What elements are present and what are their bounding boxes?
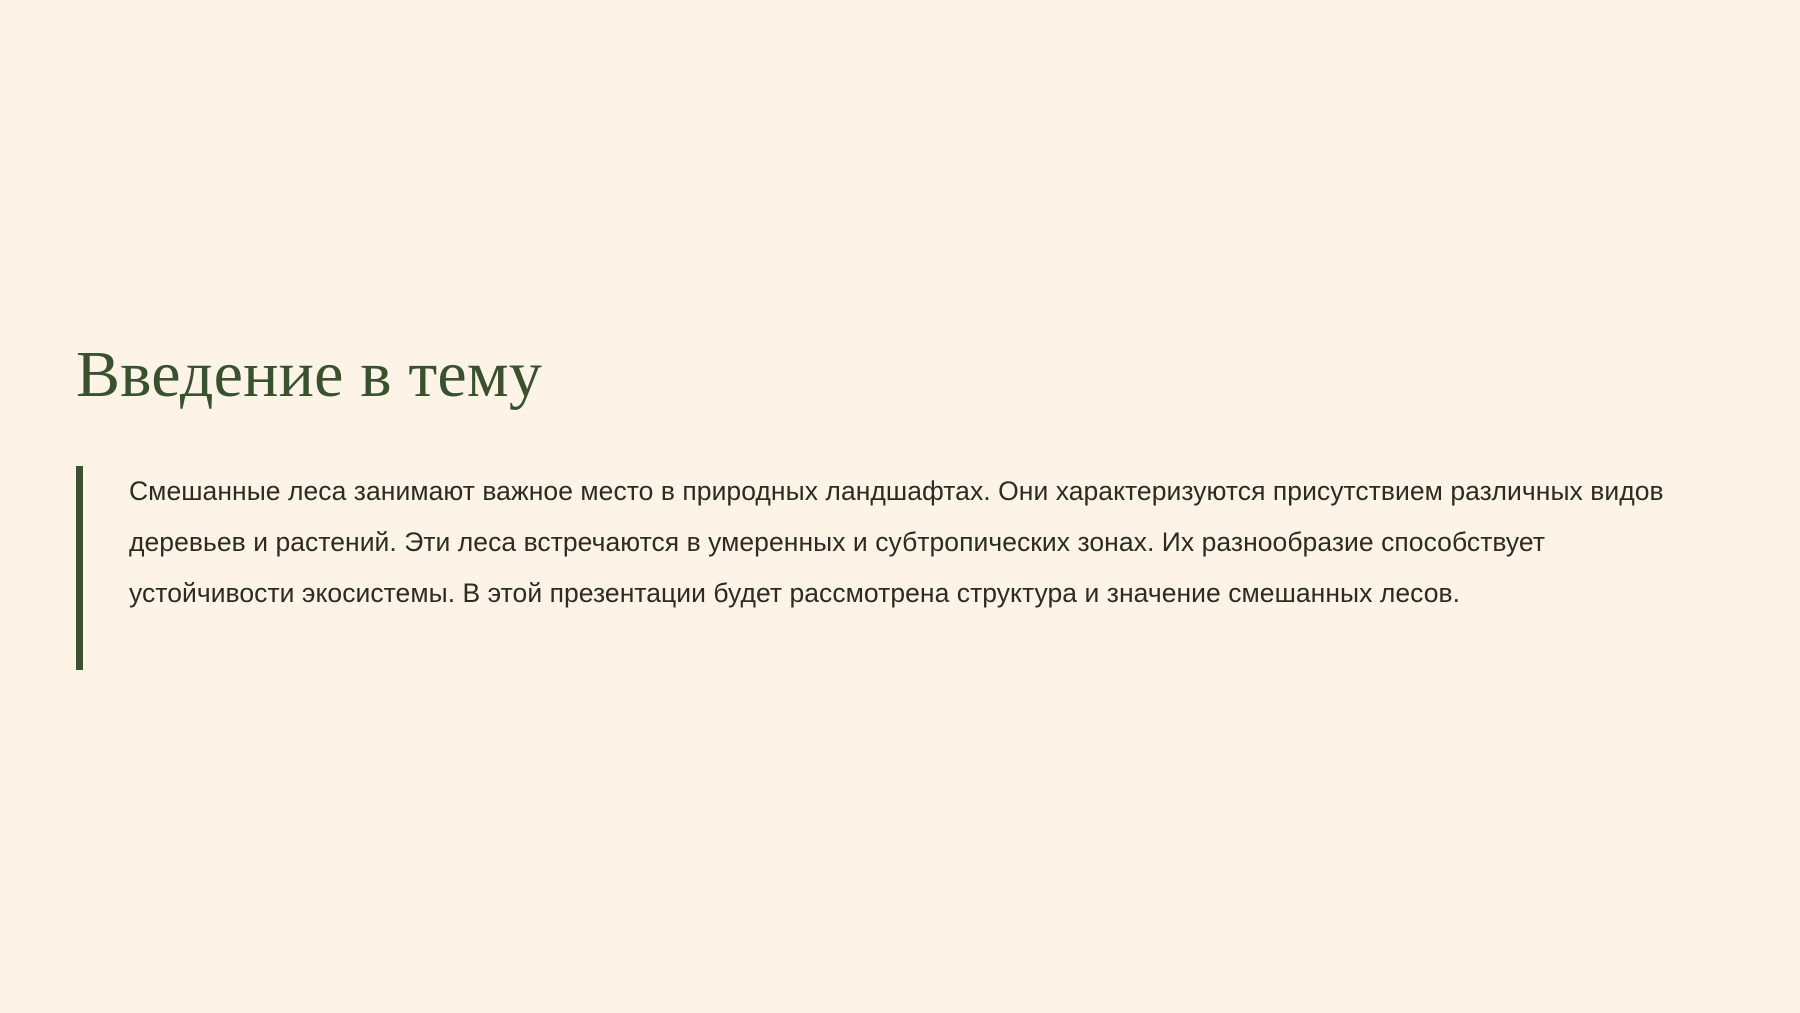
page-title: Введение в тему [76,340,542,410]
body-text-block: Смешанные леса занимают важное место в п… [76,466,1666,670]
presentation-slide: Введение в тему Смешанные леса занимают … [0,0,1800,1013]
accent-bar [76,466,83,670]
body-paragraph: Смешанные леса занимают важное место в п… [129,466,1665,619]
body-text-container: Смешанные леса занимают важное место в п… [83,466,1666,670]
